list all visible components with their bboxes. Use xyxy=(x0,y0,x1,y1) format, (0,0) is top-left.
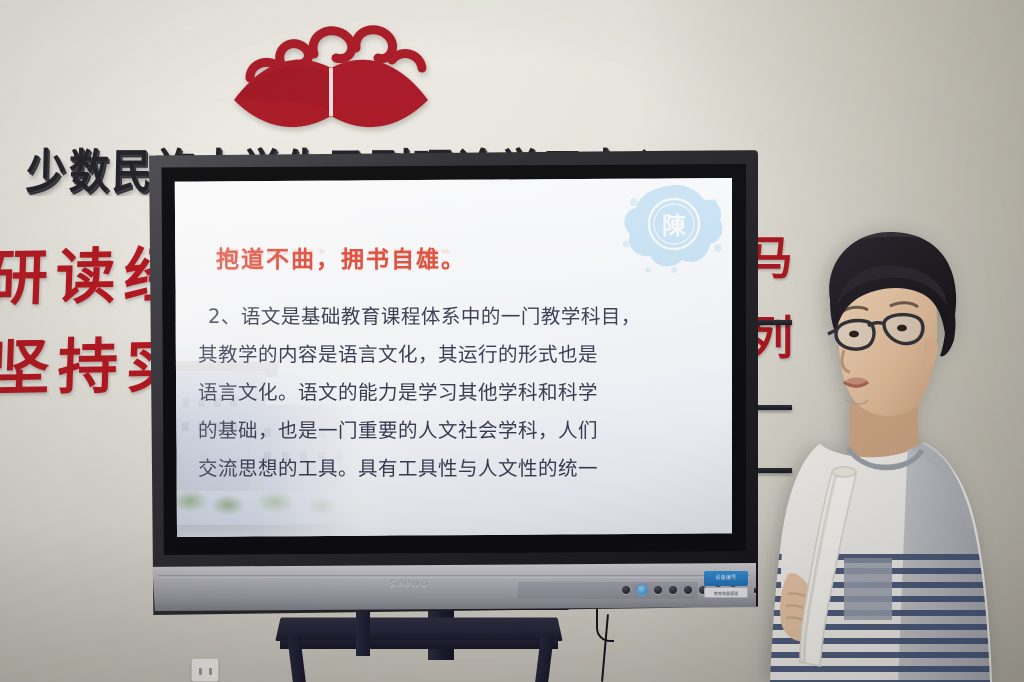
slide-body-text: 2、语文是基础教育课程体系中的一门教学科目， 其教学的内容是语言文化，其运行的形… xyxy=(198,298,714,488)
power-outlet[interactable] xyxy=(191,658,219,682)
eye xyxy=(897,325,907,332)
stand-shelf xyxy=(275,617,562,641)
slide-body-line: 的基础，也是一门重要的人文社会学科，人们 xyxy=(198,412,714,450)
slide-body-line: 其教学的内容是语言文化，其运行的形式也是 xyxy=(198,336,714,374)
presenter xyxy=(758,222,1008,682)
power-button[interactable] xyxy=(637,585,647,595)
eye xyxy=(849,331,859,338)
book-flame-crest-emblem xyxy=(222,4,440,144)
menu-button[interactable] xyxy=(622,586,630,594)
volume-up-button[interactable] xyxy=(684,586,692,594)
slide-body-line: 交流思想的工具。具有工具性与人文性的统一 xyxy=(198,450,714,488)
presentation-slide: 陳 抱道不曲，拥书自雄。 抱道不曲，拥书自雄。 2、语文是基础教育课程体系中的一… xyxy=(172,178,732,537)
volume-down-button[interactable] xyxy=(669,586,677,594)
seal-character: 陳 xyxy=(662,212,687,240)
outlet-slot xyxy=(209,668,212,675)
shirt-pocket xyxy=(844,558,892,620)
source-button[interactable] xyxy=(654,586,662,594)
asset-tag-sticker: 设备编号 xyxy=(704,571,748,586)
slide-seal-logo: 陳 xyxy=(614,182,726,278)
outlet-slot xyxy=(199,668,202,675)
classroom-scene: 少数民族大学生马列理论学习中心 研读经典 坚持实践 马列 xyxy=(0,0,1024,682)
mobile-tv-stand xyxy=(270,604,570,682)
slide-body-line: 2、语文是基础教育课程体系中的一门教学科目， xyxy=(198,298,714,336)
asset-tag-sticker-sub: 教育装备管理 xyxy=(704,587,748,598)
display-screen[interactable]: 陳 抱道不曲，拥书自雄。 抱道不曲，拥书自雄。 2、语文是基础教育课程体系中的一… xyxy=(172,178,732,537)
slide-body-line: 语言文化。语文的能力是学习其他学科和科学 xyxy=(198,374,714,412)
interactive-flat-panel-display[interactable]: 陳 抱道不曲，拥书自雄。 抱道不曲，拥书自雄。 2、语文是基础教育课程体系中的一… xyxy=(146,150,758,615)
slide-title: 抱道不曲，拥书自雄。 xyxy=(216,240,466,274)
display-brand-logo: seewo xyxy=(390,577,429,589)
display-bottom-bar: seewo 设备编号 教育装备管理 xyxy=(150,563,756,611)
bottom-bar-groove xyxy=(158,575,750,578)
stand-shelf-edge xyxy=(280,640,558,649)
